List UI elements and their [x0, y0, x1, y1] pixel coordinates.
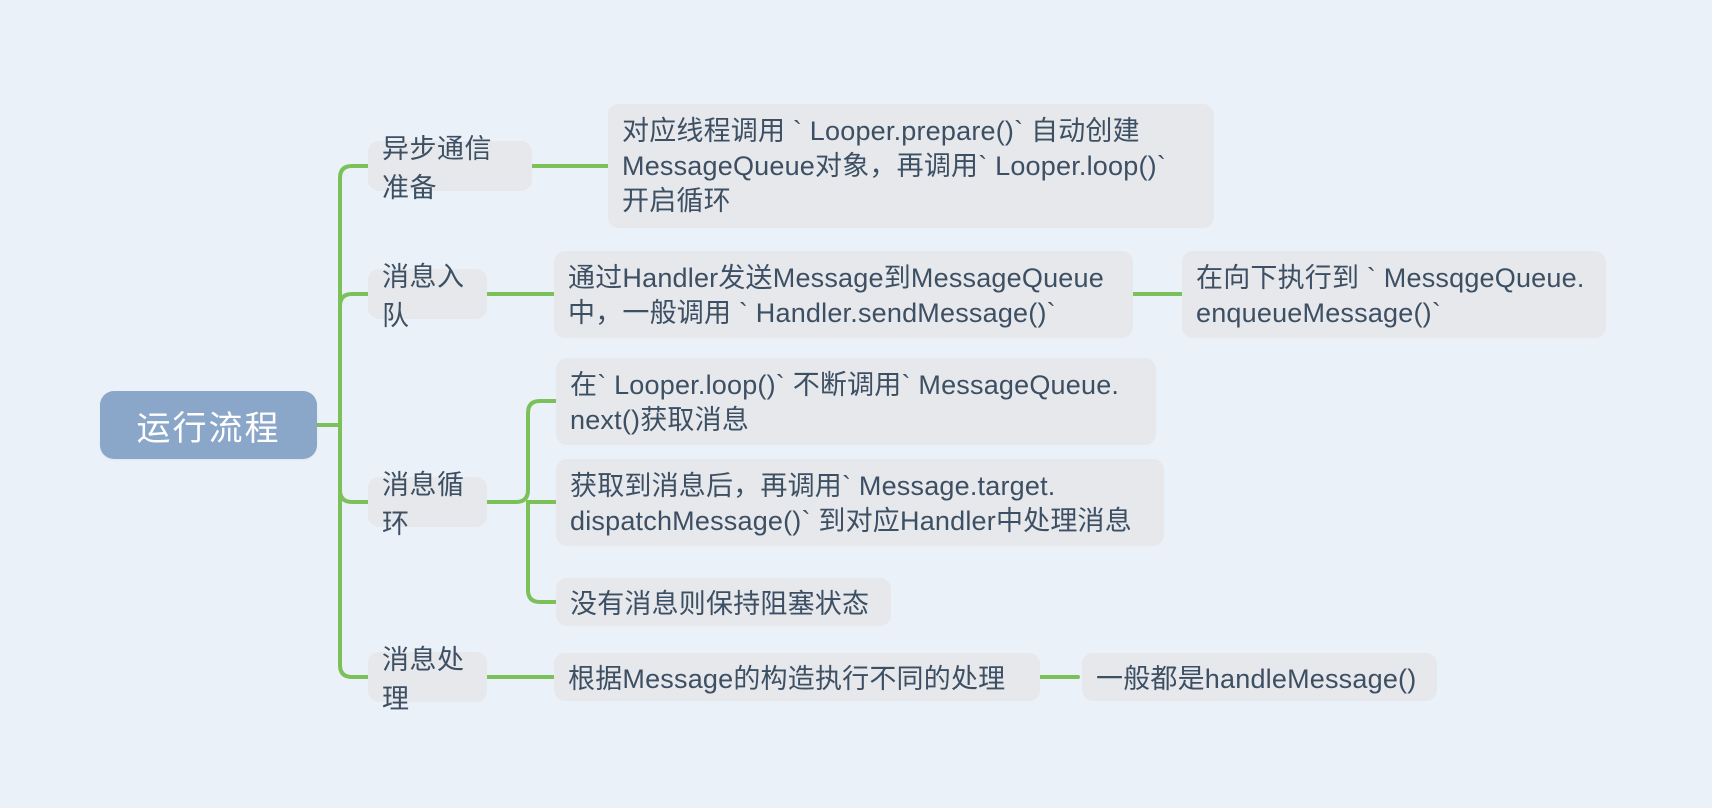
- detail-line: 中，一般调用 ` Handler.sendMessage()`: [568, 296, 1119, 331]
- detail-line: 根据Message的构造执行不同的处理: [568, 662, 1026, 697]
- detail-node-async-prepare-1[interactable]: 对应线程调用 ` Looper.prepare()` 自动创建 MessageQ…: [608, 104, 1214, 228]
- branch-node-message-enqueue[interactable]: 消息入队: [368, 269, 487, 319]
- detail-line: 一般都是handleMessage(): [1096, 662, 1423, 697]
- detail-line: 在向下执行到 ` MessqgeQueue.: [1196, 261, 1592, 296]
- branch-node-label: 消息处理: [382, 638, 473, 716]
- detail-line: 对应线程调用 ` Looper.prepare()` 自动创建: [622, 114, 1200, 149]
- root-node-label: 运行流程: [137, 401, 281, 450]
- detail-line: 在` Looper.loop()` 不断调用` MessageQueue.: [570, 368, 1142, 403]
- detail-line: dispatchMessage()` 到对应Handler中处理消息: [570, 504, 1150, 539]
- detail-node-message-handle-1-child-1[interactable]: 一般都是handleMessage(): [1082, 653, 1437, 701]
- detail-line: next()获取消息: [570, 403, 1142, 438]
- branch-node-label: 消息入队: [382, 255, 473, 333]
- branch-node-async-prepare[interactable]: 异步通信准备: [368, 141, 532, 191]
- detail-node-message-enqueue-1[interactable]: 通过Handler发送Message到MessageQueue 中，一般调用 `…: [554, 251, 1133, 338]
- detail-node-message-enqueue-1-child-1[interactable]: 在向下执行到 ` MessqgeQueue. enqueueMessage()`: [1182, 251, 1606, 338]
- detail-line: 开启循环: [622, 184, 1200, 219]
- mindmap-canvas: 运行流程 异步通信准备 对应线程调用 ` Looper.prepare()` 自…: [0, 0, 1712, 808]
- detail-node-message-loop-3[interactable]: 没有消息则保持阻塞状态: [556, 578, 891, 626]
- detail-node-message-loop-1[interactable]: 在` Looper.loop()` 不断调用` MessageQueue. ne…: [556, 358, 1156, 445]
- detail-line: MessageQueue对象，再调用` Looper.loop()`: [622, 149, 1200, 184]
- branch-node-message-loop[interactable]: 消息循环: [368, 477, 487, 527]
- branch-node-label: 消息循环: [382, 463, 473, 541]
- detail-line: enqueueMessage()`: [1196, 296, 1592, 331]
- detail-node-message-handle-1[interactable]: 根据Message的构造执行不同的处理: [554, 653, 1040, 701]
- detail-line: 获取到消息后，再调用` Message.target.: [570, 469, 1150, 504]
- root-node[interactable]: 运行流程: [100, 391, 317, 459]
- branch-node-label: 异步通信准备: [382, 127, 518, 205]
- detail-node-message-loop-2[interactable]: 获取到消息后，再调用` Message.target. dispatchMess…: [556, 459, 1164, 546]
- detail-line: 通过Handler发送Message到MessageQueue: [568, 261, 1119, 296]
- detail-line: 没有消息则保持阻塞状态: [570, 587, 877, 622]
- branch-node-message-handle[interactable]: 消息处理: [368, 652, 487, 702]
